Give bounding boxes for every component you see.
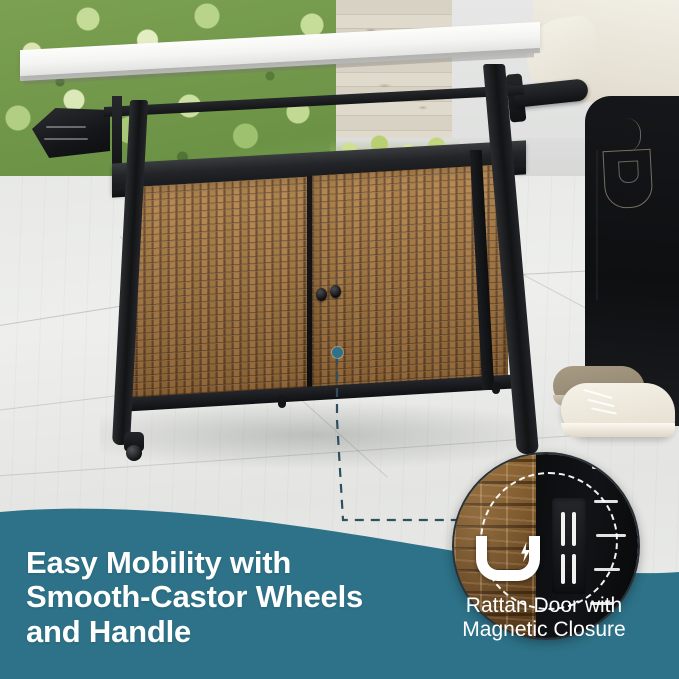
headline-line-3: and Handle [26, 615, 446, 649]
inset-tick [592, 466, 618, 469]
foot-pad [278, 396, 286, 408]
callout-anchor-dot [332, 347, 343, 358]
door-seam [307, 176, 312, 398]
foot-pad [492, 382, 500, 394]
door-knob-icon[interactable] [316, 288, 327, 301]
side-hook-bracket[interactable] [32, 108, 110, 158]
left-upright [112, 96, 122, 166]
push-handle[interactable] [513, 78, 589, 108]
left-rattan-door[interactable] [128, 177, 310, 406]
inset-caption: Rattan Door with Magnetic Closure [418, 594, 670, 643]
headline-line-1: Easy Mobility with [26, 546, 446, 580]
headline: Easy Mobility with Smooth-Castor Wheels … [26, 546, 446, 649]
hook-slot [46, 126, 86, 128]
dashed-circle-highlight [480, 472, 618, 610]
headline-line-2: Smooth-Castor Wheels [26, 580, 446, 614]
caption-line-1: Rattan Door with [418, 594, 670, 618]
caption-line-2: Magnetic Closure [418, 618, 670, 642]
door-knob-icon[interactable] [330, 285, 341, 298]
upper-frame-rail [104, 85, 524, 117]
product-feature-image: Easy Mobility with Smooth-Castor Wheels … [0, 0, 679, 679]
hook-slot [44, 138, 88, 140]
castor-wheel-icon [126, 445, 142, 461]
